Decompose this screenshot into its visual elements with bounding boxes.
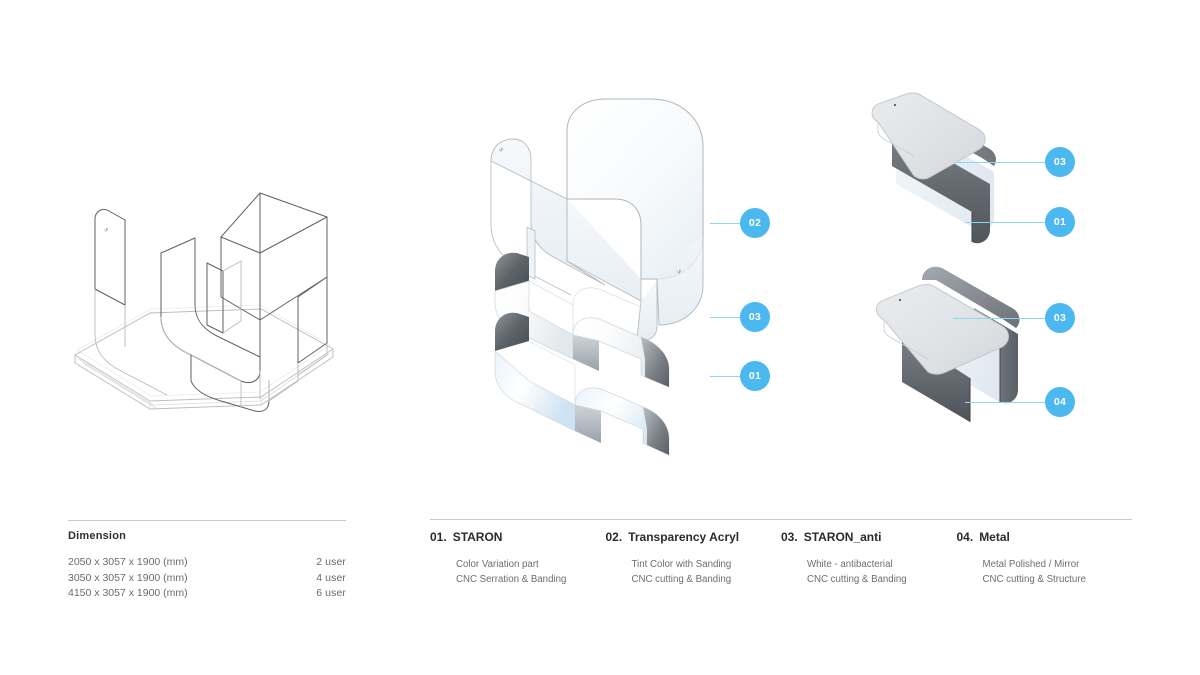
isometric-wireframe-booth: S <box>55 185 365 435</box>
wireframe-base <box>75 305 333 409</box>
wireframe-left-panel: S <box>95 209 167 395</box>
callout-exploded-02[interactable]: 02 <box>710 208 770 238</box>
callout-exploded-03[interactable]: 03 <box>710 302 770 332</box>
leader-line <box>710 223 740 224</box>
legend-title: Transparency Acryl <box>628 530 739 544</box>
dimension-size: 4150 x 3057 x 1900 (mm) <box>68 586 188 602</box>
legend-line: White - antibacterial <box>807 557 957 572</box>
legend-description: Color Variation part CNC Serration & Ban… <box>430 557 606 587</box>
wireframe-svg: S <box>55 185 365 435</box>
leader-line <box>953 318 1045 319</box>
legend-title: STARON_anti <box>804 530 882 544</box>
badge-01[interactable]: 01 <box>1045 207 1075 237</box>
badge-03[interactable]: 03 <box>1045 147 1075 177</box>
leader-line <box>955 162 1045 163</box>
legend-heading: 03. STARON_anti <box>781 530 957 544</box>
legend-item-03: 03. STARON_anti White - antibacterial CN… <box>781 530 957 587</box>
legend-item-04: 04. Metal Metal Polished / Mirror CNC cu… <box>957 530 1133 587</box>
legend-number: 01. <box>430 530 447 544</box>
divider-left <box>68 520 346 521</box>
legend-description: Tint Color with Sanding CNC cutting & Ba… <box>606 557 782 587</box>
badge-01[interactable]: 01 <box>740 361 770 391</box>
badge-03[interactable]: 03 <box>740 302 770 332</box>
material-legend: 01. STARON Color Variation part CNC Serr… <box>430 530 1132 587</box>
leader-line <box>965 402 1045 403</box>
callout-detail-top-03[interactable]: 03 <box>955 147 1075 177</box>
callout-detail-bottom-03[interactable]: 03 <box>953 303 1075 333</box>
dimension-title: Dimension <box>68 530 346 542</box>
wireframe-back-wall <box>221 193 327 375</box>
callout-detail-bottom-04[interactable]: 04 <box>965 387 1075 417</box>
legend-heading: 02. Transparency Acryl <box>606 530 782 544</box>
exploded-svg: S S <box>455 75 745 455</box>
dimension-users: 2 user <box>316 555 346 571</box>
legend-line: Metal Polished / Mirror <box>983 557 1133 572</box>
legend-line: Color Variation part <box>456 557 606 572</box>
legend-item-02: 02. Transparency Acryl Tint Color with S… <box>606 530 782 587</box>
diagram-canvas: S <box>0 0 1200 675</box>
legend-title: Metal <box>979 530 1010 544</box>
dimension-size: 3050 x 3057 x 1900 (mm) <box>68 571 188 587</box>
dimension-row: 4150 x 3057 x 1900 (mm) 6 user <box>68 586 346 602</box>
callout-exploded-01[interactable]: 01 <box>710 361 770 391</box>
leader-line <box>710 317 740 318</box>
badge-02[interactable]: 02 <box>740 208 770 238</box>
dimension-row: 3050 x 3057 x 1900 (mm) 4 user <box>68 571 346 587</box>
leader-line <box>710 376 740 377</box>
legend-line: CNC Serration & Banding <box>456 572 606 587</box>
legend-heading: 04. Metal <box>957 530 1133 544</box>
legend-line: CNC cutting & Structure <box>983 572 1133 587</box>
brand-logo-mark: S <box>102 227 109 233</box>
callout-detail-top-01[interactable]: 01 <box>965 207 1075 237</box>
legend-line: CNC cutting & Banding <box>807 572 957 587</box>
legend-description: Metal Polished / Mirror CNC cutting & St… <box>957 557 1133 587</box>
legend-description: White - antibacterial CNC cutting & Band… <box>781 557 957 587</box>
legend-line: Tint Color with Sanding <box>632 557 782 572</box>
legend-line: CNC cutting & Banding <box>632 572 782 587</box>
wireframe-curved-body <box>161 238 269 412</box>
exploded-layer-stack: S S <box>455 75 745 455</box>
dimension-size: 2050 x 3057 x 1900 (mm) <box>68 555 188 571</box>
dimension-users: 4 user <box>316 571 346 587</box>
dimension-users: 6 user <box>316 586 346 602</box>
legend-number: 03. <box>781 530 798 544</box>
badge-03[interactable]: 03 <box>1045 303 1075 333</box>
legend-number: 02. <box>606 530 623 544</box>
badge-04[interactable]: 04 <box>1045 387 1075 417</box>
divider-right <box>430 519 1132 520</box>
wireframe-inner-fin <box>207 261 241 333</box>
legend-title: STARON <box>453 530 503 544</box>
leader-line <box>965 222 1045 223</box>
legend-item-01: 01. STARON Color Variation part CNC Serr… <box>430 530 606 587</box>
dimension-row: 2050 x 3057 x 1900 (mm) 2 user <box>68 555 346 571</box>
legend-heading: 01. STARON <box>430 530 606 544</box>
legend-number: 04. <box>957 530 974 544</box>
dimension-block: Dimension 2050 x 3057 x 1900 (mm) 2 user… <box>68 530 346 602</box>
